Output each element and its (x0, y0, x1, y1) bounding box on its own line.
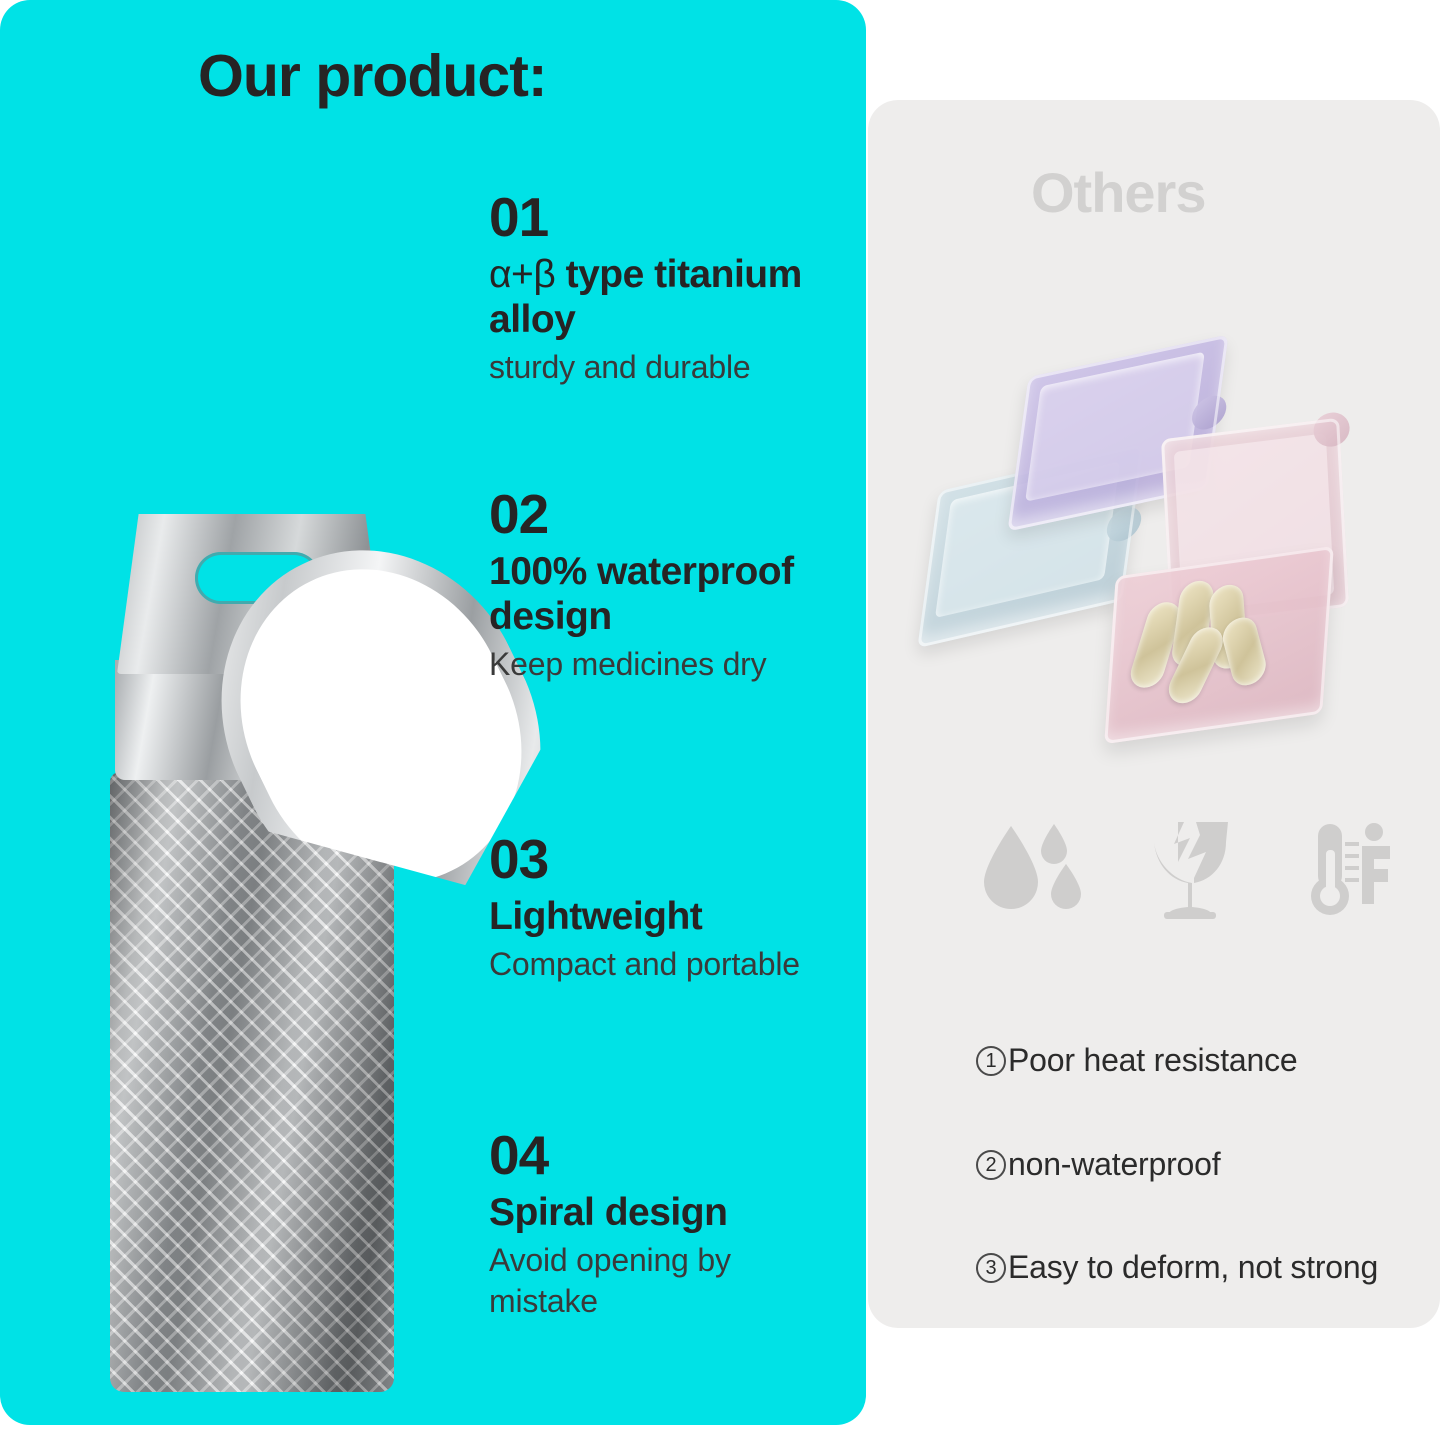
our-product-title: Our product: (198, 42, 547, 110)
drawback-text: Easy to deform, not strong (1008, 1247, 1416, 1289)
feature-title-rest: Spiral design (489, 1191, 727, 1234)
feature-subtitle: sturdy and durable (489, 347, 834, 388)
others-title: Others (1031, 160, 1206, 225)
pill-box-pink-base (1104, 546, 1334, 744)
feature-subtitle: Keep medicines dry (489, 644, 834, 685)
feature-item: 04 Spiral design Avoid opening by mistak… (489, 1128, 834, 1322)
feature-number: 03 (489, 832, 834, 887)
titanium-capsule-image (55, 500, 475, 1400)
water-drops-icon (978, 822, 1082, 918)
our-product-panel: Our product: 01 α+β type titanium alloy … (0, 0, 866, 1425)
capsule-knurled-body (110, 772, 394, 1392)
plastic-pill-boxes-image (928, 350, 1398, 770)
feature-subtitle: Avoid opening by mistake (489, 1240, 834, 1322)
broken-glass-icon (1142, 820, 1238, 920)
feature-title-rest: 100% waterproof design (489, 550, 794, 638)
drawback-text: non-waterproof (1008, 1144, 1416, 1186)
drawback-marker: 2 (976, 1150, 1006, 1180)
drawback-item: 2 non-waterproof (976, 1144, 1416, 1186)
feature-number: 02 (489, 487, 834, 542)
feature-item: 02 100% waterproof design Keep medicines… (489, 487, 834, 685)
others-panel: Others (868, 100, 1440, 1328)
drawbacks-list: 1 Poor heat resistance 2 non-waterproof … (976, 1040, 1416, 1351)
feature-subtitle: Compact and portable (489, 944, 834, 985)
feature-title: 100% waterproof design (489, 550, 834, 640)
drawback-marker: 1 (976, 1046, 1006, 1076)
feature-title: α+β type titanium alloy (489, 253, 834, 343)
feature-item: 01 α+β type titanium alloy sturdy and du… (489, 190, 834, 388)
comparison-infographic: Our product: 01 α+β type titanium alloy … (0, 0, 1445, 1433)
feature-title-lead: α+β (489, 253, 555, 296)
drawback-item: 3 Easy to deform, not strong (976, 1247, 1416, 1289)
feature-title: Spiral design (489, 1191, 834, 1236)
feature-item: 03 Lightweight Compact and portable (489, 832, 834, 985)
drawback-marker: 3 (976, 1253, 1006, 1283)
drawback-text: Poor heat resistance (1008, 1040, 1416, 1082)
feature-number: 01 (489, 190, 834, 245)
thermometer-fahrenheit-icon (1298, 820, 1398, 920)
feature-number: 04 (489, 1128, 834, 1183)
warning-icons-row (978, 815, 1398, 925)
drawback-item: 1 Poor heat resistance (976, 1040, 1416, 1082)
feature-title-rest: Lightweight (489, 895, 702, 938)
feature-title: Lightweight (489, 895, 834, 940)
